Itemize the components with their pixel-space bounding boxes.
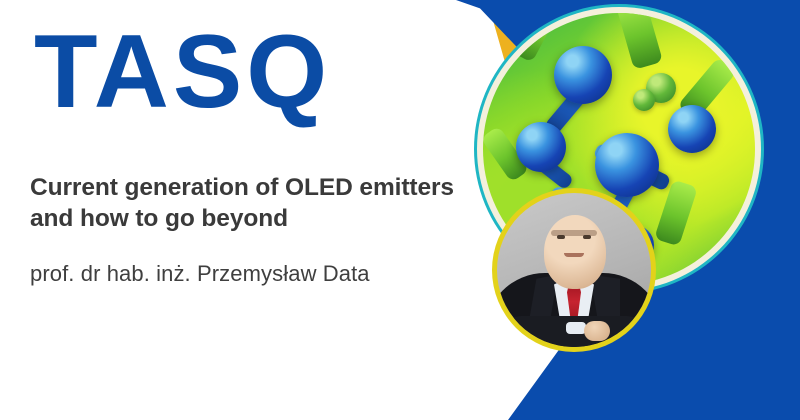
webinar-banner: TASQ Current generation of OLED emitters… <box>0 0 800 420</box>
page-title: Current generation of OLED emitters and … <box>30 172 500 235</box>
portrait-head <box>544 215 606 289</box>
portrait-eye-right <box>583 235 591 239</box>
portrait-hand <box>584 321 610 341</box>
speaker-portrait-photo <box>497 193 651 347</box>
portrait-eye-left <box>557 235 565 239</box>
tasq-logo: TASQ <box>34 20 331 124</box>
portrait-cuff-left <box>566 322 586 334</box>
title-line-2: and how to go beyond <box>30 203 500 234</box>
speaker-name: prof. dr hab. inż. Przemysław Data <box>30 261 370 287</box>
speaker-portrait-circle <box>492 188 656 352</box>
title-line-1: Current generation of OLED emitters <box>30 172 500 203</box>
portrait-mouth <box>564 253 584 257</box>
